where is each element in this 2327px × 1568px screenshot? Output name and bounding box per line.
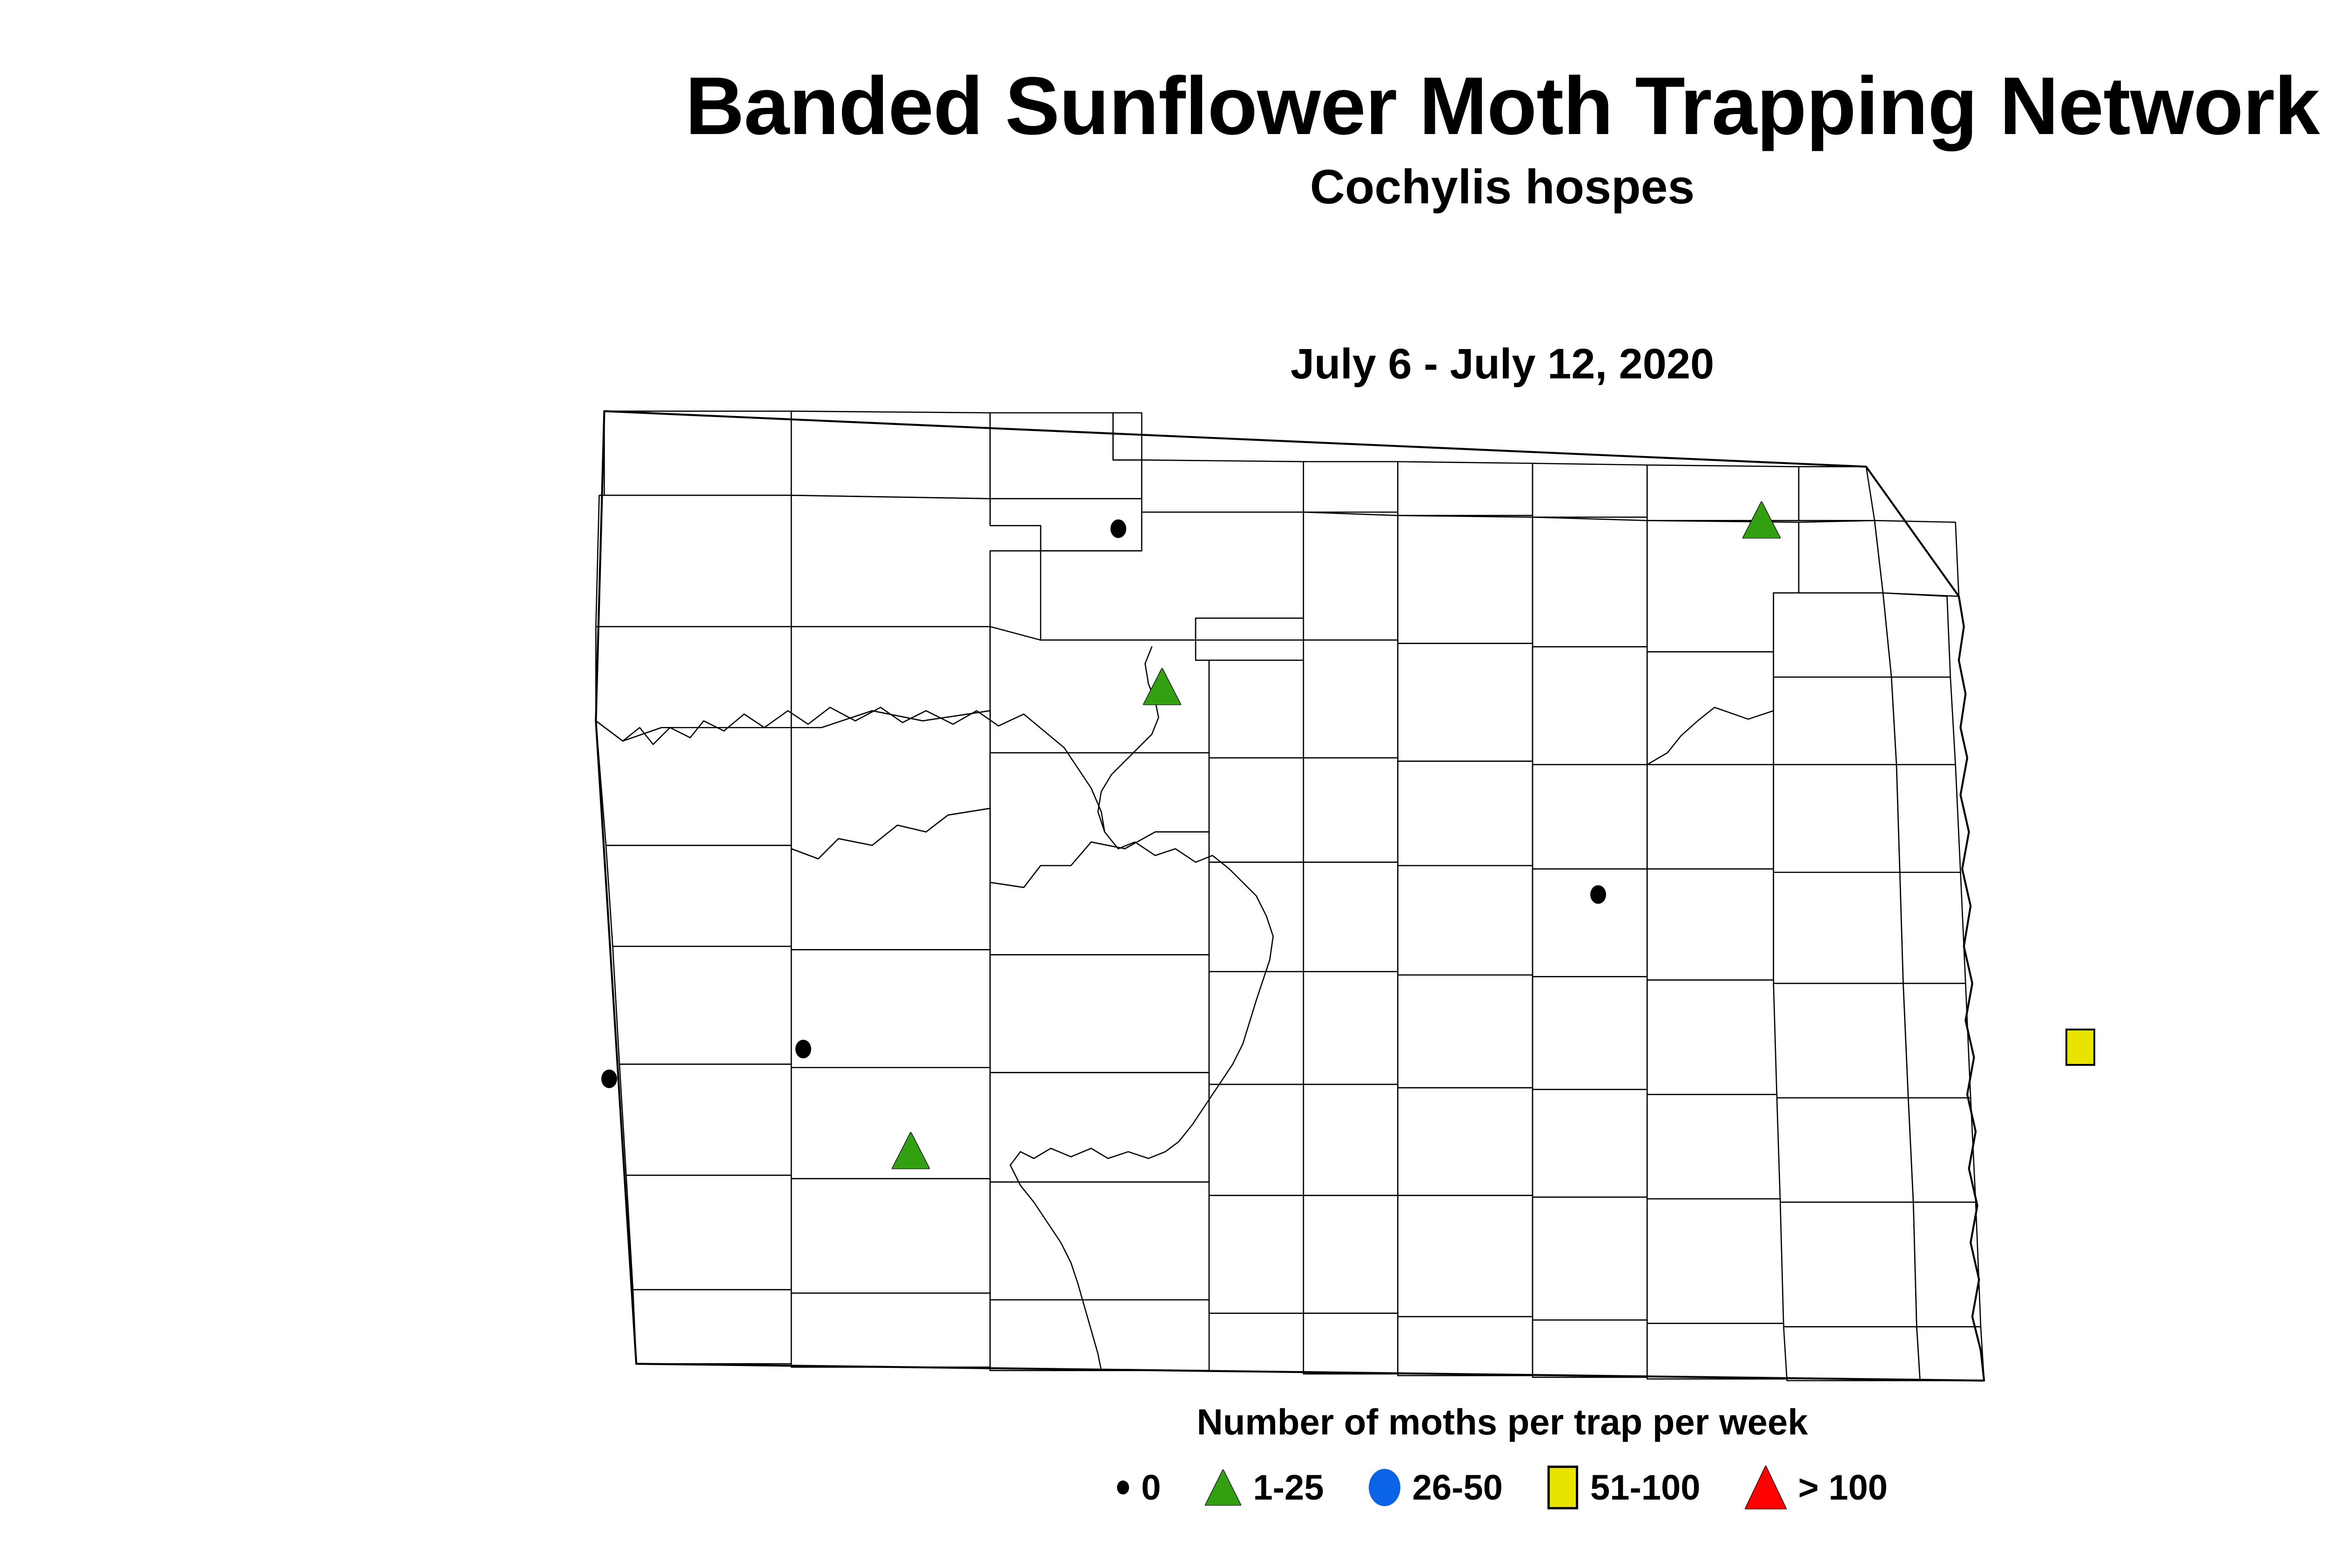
legend-label: 51-100 xyxy=(1590,1467,1701,1508)
legend-label: 0 xyxy=(1141,1467,1161,1508)
north-dakota-map xyxy=(535,391,2220,1382)
county-boundaries xyxy=(596,411,1984,1380)
species-subtitle: Cochylis hospes xyxy=(0,163,2327,211)
trap-marker-zero[interactable] xyxy=(601,1070,617,1088)
legend-item-over-100[interactable]: > 100 xyxy=(1745,1466,1888,1509)
triangle-green-icon xyxy=(1205,1470,1241,1505)
map-svg xyxy=(535,391,2220,1382)
trap-marker-low[interactable] xyxy=(1743,502,1780,538)
poster-canvas: Banded Sunflower Moth Trapping Network C… xyxy=(0,0,2327,1568)
trap-marker-high[interactable] xyxy=(2065,1029,2095,1066)
legend-item-51-100[interactable]: 51-100 xyxy=(1547,1466,1701,1509)
legend-label: 1-25 xyxy=(1253,1467,1324,1508)
trap-marker-zero[interactable] xyxy=(1590,885,1606,904)
trap-marker-low[interactable] xyxy=(892,1132,929,1169)
circle-blue-icon xyxy=(1369,1469,1400,1506)
legend: Number of moths per trap per week 0 1-25… xyxy=(0,1401,2327,1509)
legend-label: 26-50 xyxy=(1412,1467,1503,1508)
legend-item-0[interactable]: 0 xyxy=(1117,1467,1161,1508)
legend-items: 0 1-25 26-50 51-100 > 100 xyxy=(0,1466,2327,1509)
legend-item-26-50[interactable]: 26-50 xyxy=(1369,1467,1503,1508)
triangle-red-icon xyxy=(1745,1466,1786,1509)
circle-small-black-icon xyxy=(1117,1481,1129,1494)
trap-marker-zero[interactable] xyxy=(795,1040,811,1058)
date-range-label: July 6 - July 12, 2020 xyxy=(0,340,2327,389)
page-title: Banded Sunflower Moth Trapping Network xyxy=(0,65,2327,147)
trap-marker-low[interactable] xyxy=(1143,668,1181,705)
legend-title: Number of moths per trap per week xyxy=(0,1401,2327,1443)
legend-label: > 100 xyxy=(1798,1467,1888,1508)
title-block: Banded Sunflower Moth Trapping Network C… xyxy=(0,65,2327,211)
trap-marker-zero[interactable] xyxy=(1110,519,1126,538)
legend-item-1-25[interactable]: 1-25 xyxy=(1205,1467,1324,1508)
square-yellow-icon xyxy=(1547,1466,1578,1509)
